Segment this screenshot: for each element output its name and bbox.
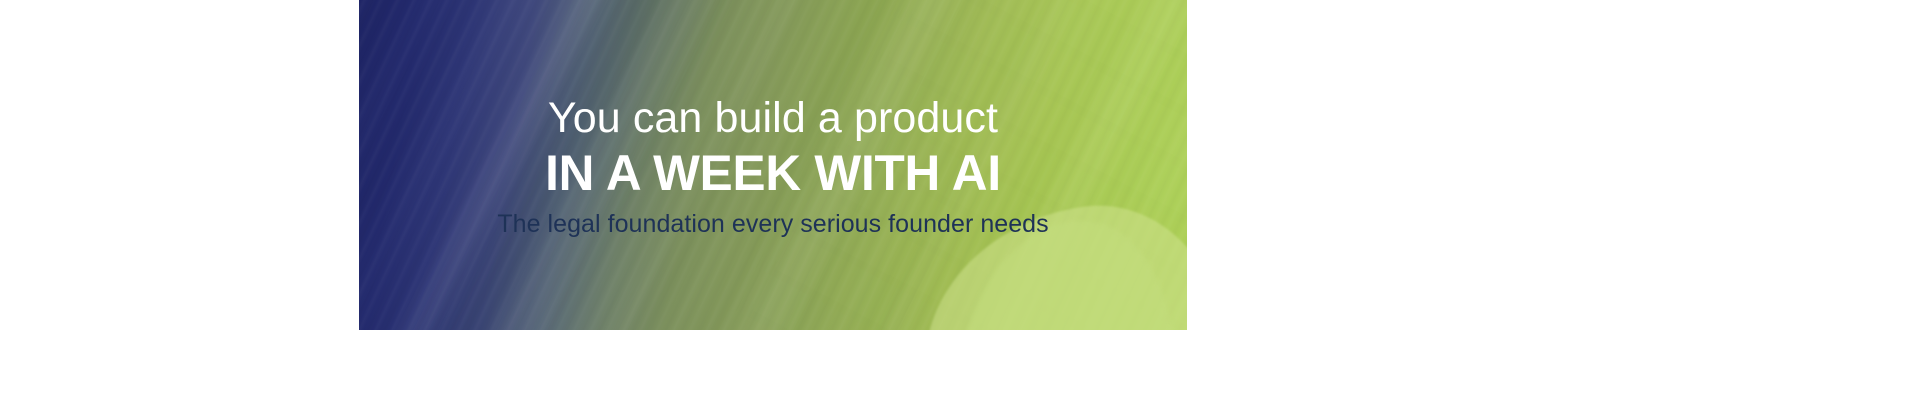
banner-subheading: The legal foundation every serious found… — [359, 204, 1187, 244]
banner-text-stack: You can build a product IN A WEEK WITH A… — [359, 92, 1187, 244]
promo-banner[interactable]: You can build a product IN A WEEK WITH A… — [359, 0, 1187, 330]
headline-line-2: IN A WEEK WITH AI — [363, 144, 1183, 202]
headline-line-1: You can build a product — [359, 92, 1187, 144]
page-root: You can build a product IN A WEEK WITH A… — [0, 0, 1912, 407]
